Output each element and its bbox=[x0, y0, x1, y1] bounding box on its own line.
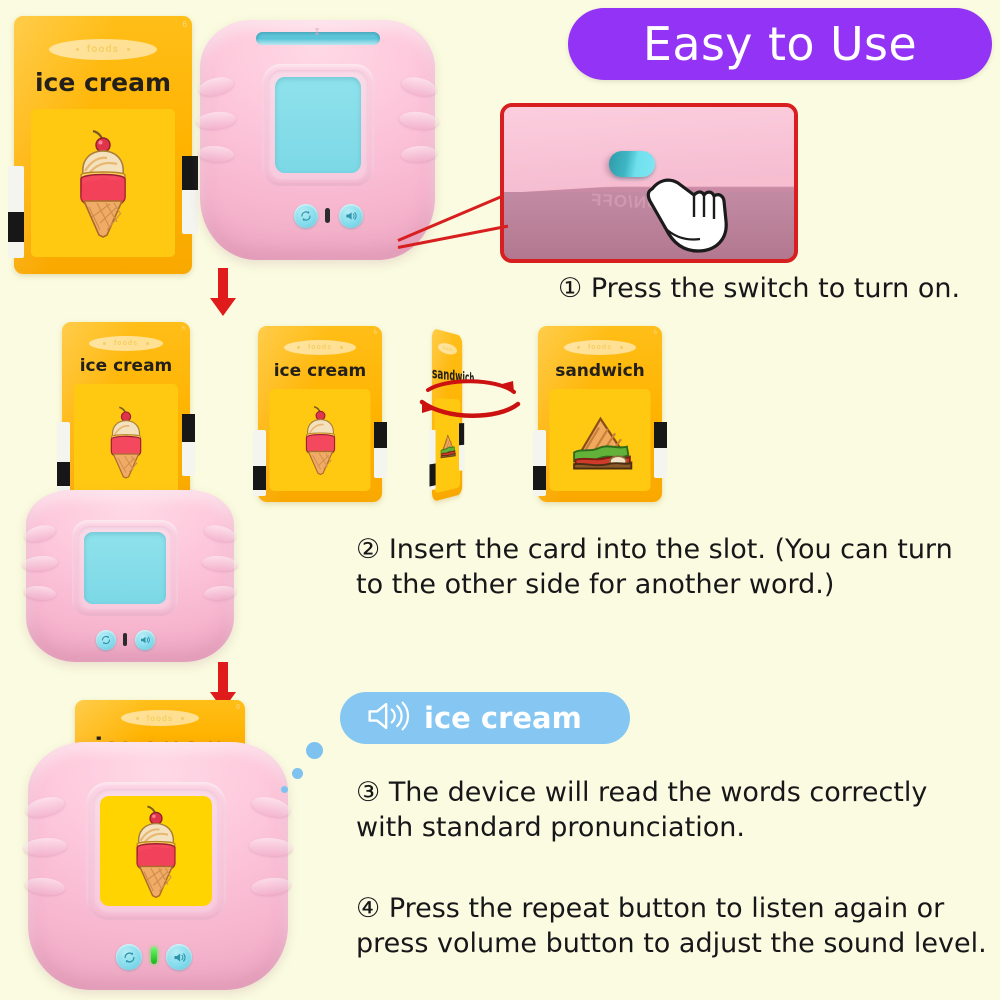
card-strip-left bbox=[533, 430, 546, 496]
volume-button[interactable] bbox=[166, 944, 192, 970]
badge-dot-right bbox=[620, 346, 623, 349]
volume-button[interactable] bbox=[339, 204, 363, 228]
card-category-badge: foods bbox=[121, 710, 199, 726]
badge-dot-right bbox=[127, 48, 130, 51]
screen-inner-bezel bbox=[93, 789, 219, 913]
sound-bubble-small bbox=[281, 786, 288, 793]
card-category-label: foods bbox=[139, 714, 182, 723]
card-category-label: foods bbox=[438, 344, 457, 354]
card-word: ice cream bbox=[258, 361, 382, 381]
repeat-icon bbox=[299, 209, 313, 223]
slot-marker-icon: ↧ bbox=[313, 27, 321, 37]
card-picture-area bbox=[270, 389, 371, 491]
ice-cream-icon bbox=[67, 127, 139, 239]
sound-bubble-medium bbox=[292, 768, 303, 779]
card-category-label: foods bbox=[300, 344, 340, 351]
step-4-number: ④ bbox=[356, 893, 380, 924]
card-strip-right bbox=[182, 156, 198, 234]
card-category-badge: foods bbox=[438, 341, 457, 355]
volume-icon bbox=[344, 209, 358, 223]
arrow-head bbox=[210, 298, 236, 316]
display-window bbox=[84, 532, 166, 604]
card-strip-left bbox=[253, 430, 266, 496]
card-category-label: foods bbox=[79, 44, 127, 55]
card-strip-left bbox=[8, 166, 24, 258]
flashcard-ice-cream-front[interactable]: 6 foods ice cream bbox=[14, 16, 192, 274]
arrow-shaft bbox=[218, 662, 228, 694]
card-picture-area bbox=[550, 389, 651, 491]
display-window bbox=[275, 77, 361, 173]
card-category-label: foods bbox=[580, 344, 620, 351]
spoken-word: ice cream bbox=[424, 701, 582, 735]
card-corner-mark: 6 bbox=[374, 330, 377, 336]
card-picture-area bbox=[74, 384, 178, 500]
screen-frame bbox=[72, 520, 178, 616]
sandwich-icon bbox=[556, 407, 644, 473]
screen-frame bbox=[262, 64, 374, 186]
repeat-icon bbox=[100, 634, 112, 646]
ice-cream-icon bbox=[297, 403, 343, 477]
device-unit-step3[interactable] bbox=[28, 742, 288, 990]
card-corner-mark: 6 bbox=[654, 330, 657, 336]
step-3-number: ③ bbox=[356, 777, 380, 808]
badge-dot-right bbox=[340, 346, 343, 349]
volume-icon bbox=[139, 634, 151, 646]
step-1-number: ① bbox=[558, 273, 582, 304]
rotate-arrows-icon bbox=[406, 376, 532, 426]
ice-cream-icon bbox=[102, 404, 150, 480]
card-category-label: foods bbox=[106, 340, 146, 347]
sound-bubble-large bbox=[306, 742, 323, 759]
card-corner-mark: 6 bbox=[182, 326, 185, 332]
sandwich-icon bbox=[436, 428, 458, 463]
screen-inner-bezel bbox=[78, 526, 172, 610]
badge-dot-right bbox=[181, 717, 184, 720]
card-category-badge: foods bbox=[89, 336, 163, 351]
repeat-button[interactable] bbox=[96, 630, 116, 650]
device-unit-step1[interactable]: ↧ bbox=[200, 20, 435, 260]
card-picture-area bbox=[31, 109, 175, 257]
step-4-body: Press the repeat button to listen again … bbox=[356, 893, 987, 959]
card-strip-right bbox=[182, 414, 195, 476]
screen-frame bbox=[86, 782, 226, 920]
banner-label: Easy to Use bbox=[643, 17, 917, 71]
card-category-badge: foods bbox=[564, 340, 636, 355]
status-led bbox=[151, 947, 157, 964]
step-4-text: ④ Press the repeat button to listen agai… bbox=[356, 892, 996, 961]
flashcard-row-sandwich[interactable]: 6 foods sandwich bbox=[538, 326, 662, 502]
flashcard-inserted[interactable]: 6 foods ice cream bbox=[62, 322, 190, 504]
flashcard-flipping-group: foods sandwich bbox=[418, 320, 518, 510]
card-strip-left bbox=[57, 422, 70, 496]
step-2-text: ② Insert the card into the slot. (You ca… bbox=[356, 533, 986, 602]
screen-inner-bezel bbox=[268, 70, 368, 180]
step-2-number: ② bbox=[356, 534, 380, 565]
card-word: sandwich bbox=[538, 361, 662, 381]
volume-button[interactable] bbox=[135, 630, 155, 650]
repeat-button[interactable] bbox=[116, 944, 142, 970]
card-strip-left bbox=[430, 430, 436, 491]
card-strip-right bbox=[654, 422, 667, 478]
speaker-icon bbox=[366, 700, 410, 737]
display-window bbox=[100, 796, 212, 906]
repeat-button[interactable] bbox=[294, 204, 318, 228]
volume-icon bbox=[172, 950, 187, 965]
card-word: ice cream bbox=[62, 356, 190, 376]
card-category-badge: foods bbox=[49, 39, 157, 60]
status-led bbox=[325, 208, 330, 223]
card-corner-mark: 6 bbox=[236, 704, 240, 711]
device-unit-step2[interactable] bbox=[26, 490, 234, 662]
step-3-text: ③ The device will read the words correct… bbox=[356, 776, 976, 845]
card-strip-right bbox=[374, 422, 387, 478]
step-1-body: Press the switch to turn on. bbox=[591, 273, 960, 304]
repeat-icon bbox=[122, 950, 137, 965]
card-strip-right bbox=[459, 423, 464, 471]
card-word: ice cream bbox=[14, 68, 192, 97]
banner-easy-to-use: Easy to Use bbox=[568, 8, 992, 80]
switch-zoom-callout: ON/OFF bbox=[500, 103, 798, 263]
arrow-shaft bbox=[218, 268, 228, 300]
pointing-hand-icon bbox=[644, 143, 754, 260]
flashcard-row-ice-cream[interactable]: 6 foods ice cream bbox=[258, 326, 382, 502]
ice-cream-icon bbox=[125, 803, 187, 899]
status-led bbox=[123, 633, 127, 646]
badge-dot-right bbox=[146, 342, 149, 345]
step-3-body: The device will read the words correctly… bbox=[356, 777, 927, 843]
flow-arrow-1 bbox=[210, 268, 236, 316]
step-2-body: Insert the card into the slot. (You can … bbox=[356, 534, 953, 600]
pronunciation-bubble: ice cream bbox=[340, 692, 630, 744]
step-1-text: ① Press the switch to turn on. bbox=[558, 272, 998, 307]
infographic-canvas: Easy to Use 6 foods ice cream bbox=[0, 0, 1000, 1000]
card-category-badge: foods bbox=[284, 340, 356, 355]
card-corner-mark: 6 bbox=[183, 20, 187, 29]
